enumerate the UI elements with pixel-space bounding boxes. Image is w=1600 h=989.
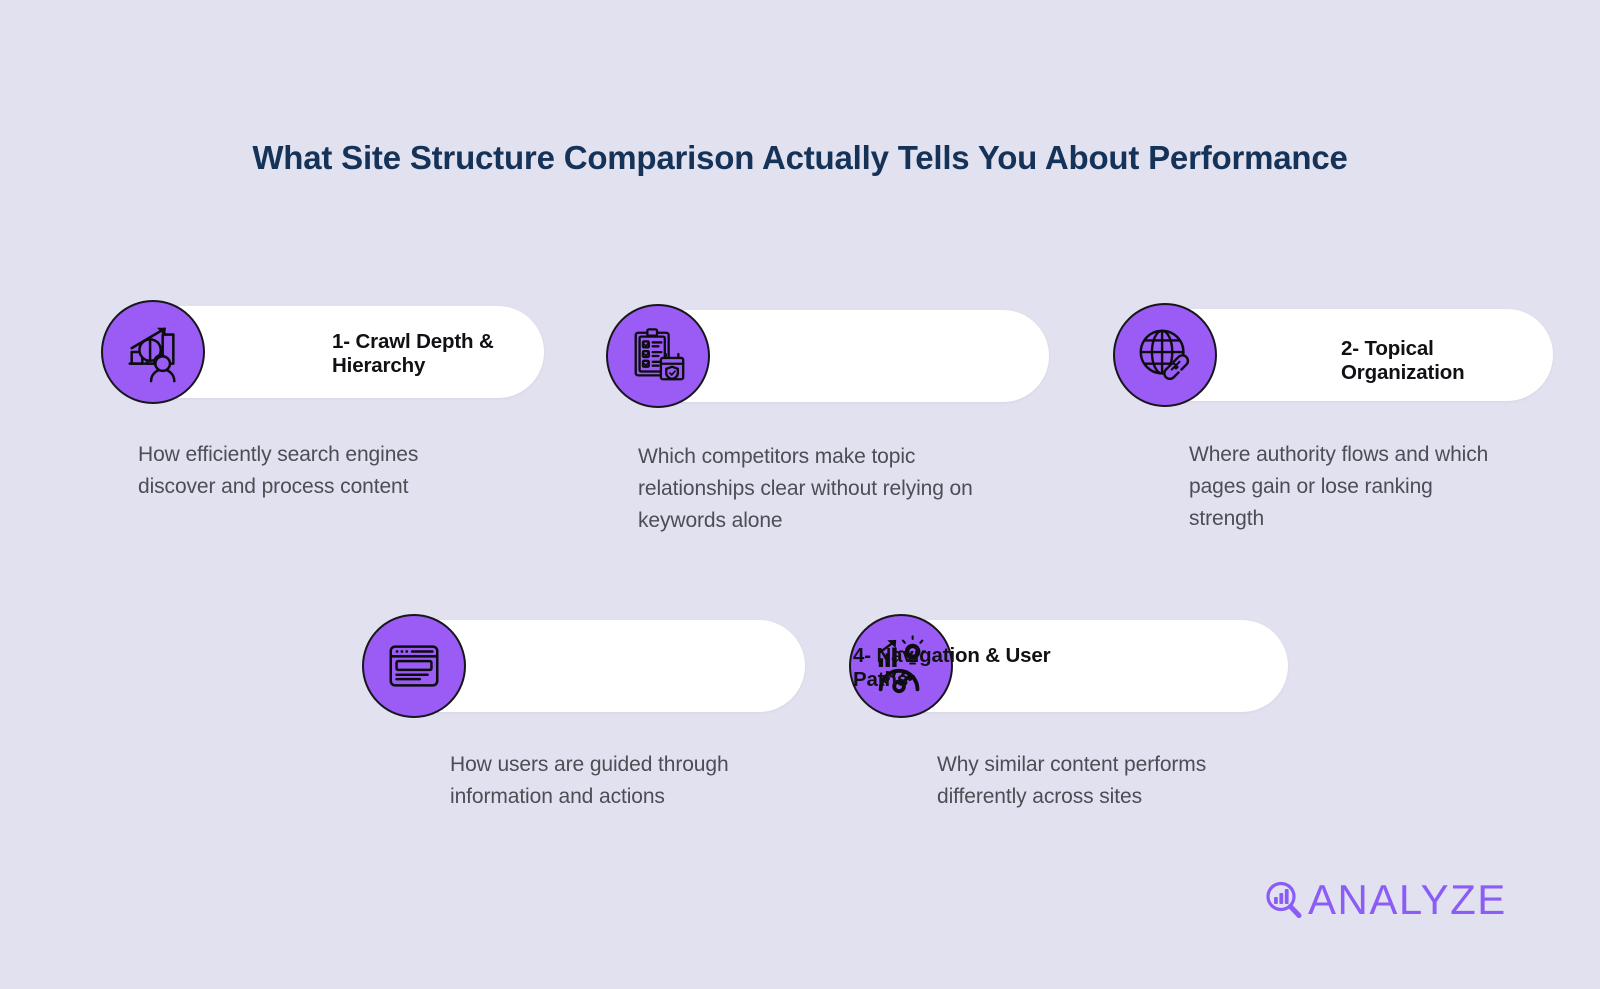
card-description: Which competitors make topic relationshi…	[638, 441, 998, 537]
analyze-logo[interactable]: ANALYZE	[1262, 878, 1507, 922]
card-pill-background	[666, 310, 1049, 402]
page-title: What Site Structure Comparison Actually …	[0, 138, 1600, 178]
clipboard-checklist-shield-icon	[606, 304, 710, 408]
bar-chart-magnifier-person-icon	[101, 300, 205, 404]
card-description: Where authority flows and which pages ga…	[1189, 439, 1489, 535]
card-title: 1- Crawl Depth & Hierarchy	[332, 330, 552, 378]
card-description: How efficiently search engines discover …	[138, 439, 498, 503]
card-title: 4- Navigation & User Paths	[853, 644, 1083, 692]
card-description: Why similar content performs differently…	[937, 749, 1237, 813]
card-pill-background	[422, 620, 805, 712]
browser-window-wireframe-icon	[362, 614, 466, 718]
card-title: 2- Topical Organization	[1341, 337, 1561, 385]
magnifier-bar-chart-icon	[1262, 878, 1306, 922]
globe-chain-link-icon	[1113, 303, 1217, 407]
card-description: How users are guided through information…	[450, 749, 750, 813]
logo-text: ANALYZE	[1308, 879, 1507, 921]
